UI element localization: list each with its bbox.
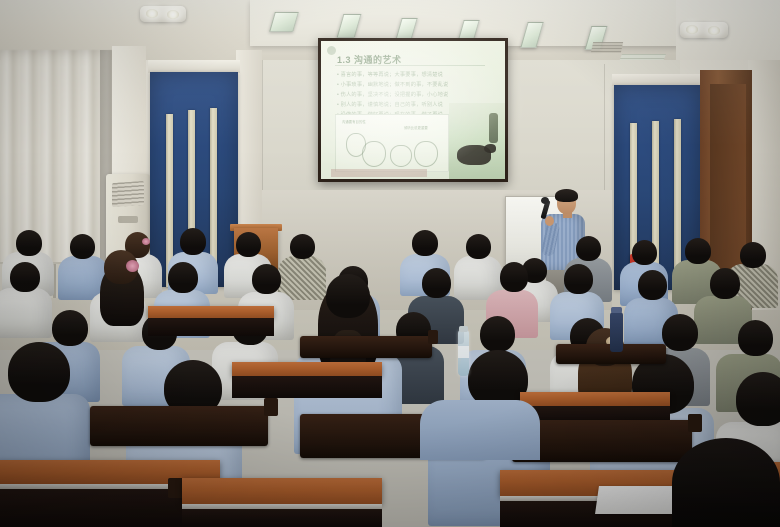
bench-knob <box>688 414 702 432</box>
desk-shadow <box>148 318 274 336</box>
air-conditioner-grill-icon <box>112 181 144 207</box>
speaker-hair <box>555 189 578 202</box>
light-bulb-icon <box>146 9 158 18</box>
slide-photo-buffalo-head <box>484 144 496 153</box>
bench-knob <box>264 398 278 416</box>
bench-back <box>90 406 268 446</box>
doodle-figure <box>362 141 386 167</box>
desk-shadow <box>232 376 382 398</box>
water-bottle-label <box>458 346 469 358</box>
slide-bullet: • 别人的事，谨慎地说；自己的事，听别人说 <box>337 101 443 108</box>
slide-cartoon-illustration: 沟通要有目的性 倾听比说更重要 <box>335 114 449 172</box>
doodle-figure <box>414 141 438 167</box>
slide-bullet: • 喜言的事，等等再说；大事要事，想清楚说 <box>337 71 443 78</box>
slide-footer-bar <box>331 169 427 177</box>
bench-back <box>300 336 432 358</box>
slide-logo-icon <box>327 46 336 55</box>
light-bulb-icon <box>708 26 720 35</box>
slide-photo-person <box>489 113 498 143</box>
cartoon-caption-right: 倾听比说更重要 <box>404 125 428 130</box>
thermos-cap <box>611 307 622 313</box>
foreground-shoulder <box>420 400 540 460</box>
slide-divider <box>335 65 485 66</box>
lecture-hall-photo: 1.3 沟通的艺术 • 喜言的事，等等再说；大事要事，想清楚说 • 小事琐事，幽… <box>0 0 780 527</box>
downlight-fixture <box>140 6 186 22</box>
foreground-head <box>672 438 780 527</box>
microphone-head-icon <box>541 197 549 204</box>
light-bulb-icon <box>686 25 698 34</box>
projection-screen: 1.3 沟通的艺术 • 喜言的事，等等再说；大事要事，想清楚说 • 小事琐事，幽… <box>321 41 505 179</box>
desk-shadow <box>182 509 382 527</box>
hair-clip <box>142 238 150 245</box>
hair-clip-icon <box>126 260 139 272</box>
foreground-desk <box>182 478 382 504</box>
water-bottle-cap <box>459 326 468 332</box>
slide-bullet: • 小事琐事，幽默地说；做不到的事，不要乱说 <box>337 81 448 88</box>
doodle-figure <box>390 145 412 167</box>
desk <box>520 392 670 406</box>
desk <box>148 306 274 318</box>
cartoon-caption-left: 沟通要有目的性 <box>342 119 366 124</box>
downlight-fixture <box>680 22 728 38</box>
desk <box>232 362 382 376</box>
bench-knob <box>428 330 438 344</box>
slide-bullet: • 伤人的事，坚决不说；没把握的事，小心地说 <box>337 91 448 98</box>
ceiling-vent-icon <box>591 42 623 53</box>
thermos-flask <box>610 312 623 352</box>
light-bulb-icon <box>167 10 179 19</box>
